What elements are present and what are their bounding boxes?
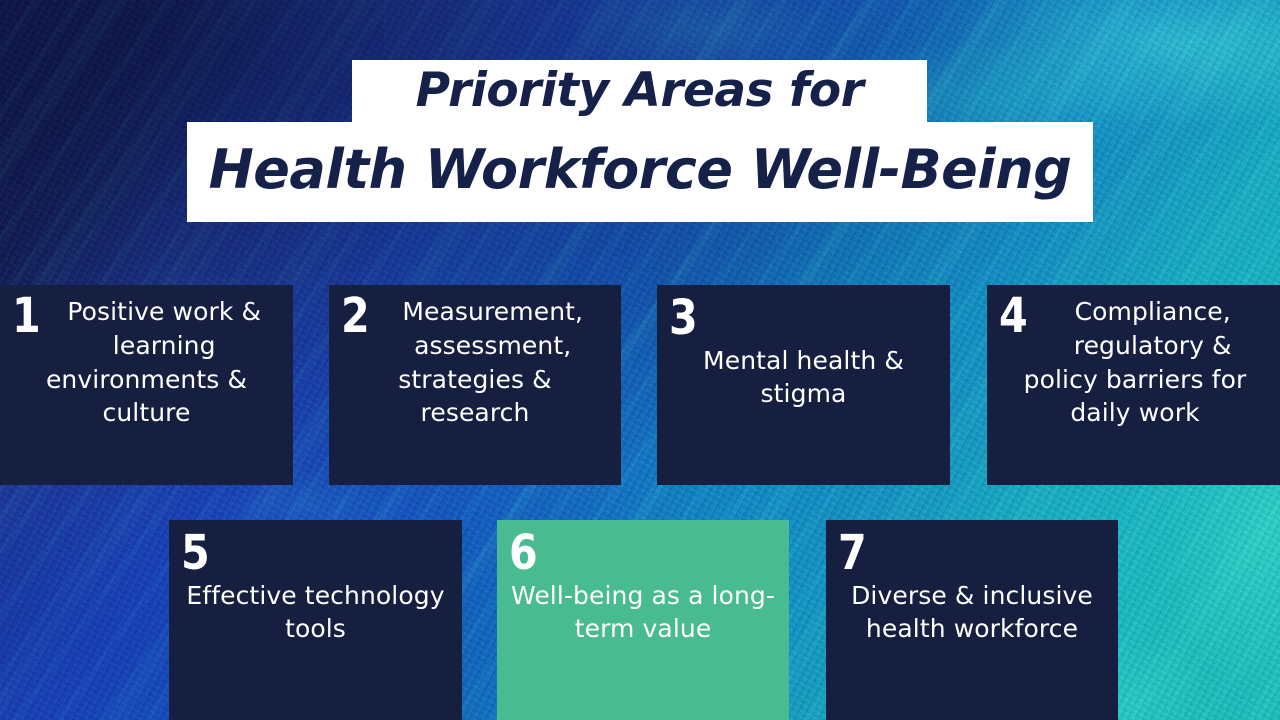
- priority-card-6[interactable]: 6 Well-being as a long-term value: [497, 520, 789, 720]
- priority-card-4-content: 4 Compliance, regulatory & policy barrie…: [999, 295, 1271, 430]
- priority-card-5[interactable]: 5 Effective technology tools: [169, 520, 462, 720]
- priority-card-1-content: 1 Positive work & learning environments …: [12, 295, 281, 430]
- priority-card-7[interactable]: 7 Diverse & inclusive health workforce: [826, 520, 1118, 720]
- priority-card-6-label: Well-being as a long-term value: [509, 579, 777, 647]
- priority-card-3[interactable]: 3 Mental health & stigma: [657, 285, 950, 485]
- priority-card-7-label: Diverse & inclusive health workforce: [838, 579, 1106, 647]
- priority-card-6-number: 6: [509, 530, 739, 577]
- priority-card-2-label: Measurement, assessment, strategies & re…: [341, 295, 609, 430]
- priority-card-4-label: Compliance, regulatory & policy barriers…: [999, 295, 1271, 430]
- priority-card-1-label: Positive work & learning environments & …: [12, 295, 281, 430]
- priority-card-1[interactable]: 1 Positive work & learning environments …: [0, 285, 293, 485]
- priority-card-2-number: 2: [341, 293, 368, 340]
- priority-card-7-number: 7: [838, 530, 1068, 577]
- priority-card-6-content: 6 Well-being as a long-term value: [509, 530, 777, 646]
- title-line-2: Health Workforce Well-Being: [187, 122, 1093, 222]
- priority-card-2[interactable]: 2 Measurement, assessment, strategies & …: [329, 285, 621, 485]
- priority-card-2-content: 2 Measurement, assessment, strategies & …: [341, 295, 609, 430]
- priority-card-5-content: 5 Effective technology tools: [181, 530, 450, 646]
- title-line-1: Priority Areas for: [352, 60, 927, 122]
- priority-card-4[interactable]: 4 Compliance, regulatory & policy barrie…: [987, 285, 1280, 485]
- priority-card-3-label: Mental health & stigma: [669, 344, 938, 412]
- priority-card-7-content: 7 Diverse & inclusive health workforce: [838, 530, 1106, 646]
- priority-card-5-number: 5: [181, 530, 412, 577]
- priority-card-3-number: 3: [669, 295, 900, 342]
- priority-card-1-number: 1: [12, 293, 39, 340]
- priority-card-4-number: 4: [999, 293, 1026, 340]
- slide-canvas: Priority Areas for Health Workforce Well…: [0, 0, 1280, 720]
- priority-card-3-content: 3 Mental health & stigma: [669, 295, 938, 411]
- priority-card-5-label: Effective technology tools: [181, 579, 450, 647]
